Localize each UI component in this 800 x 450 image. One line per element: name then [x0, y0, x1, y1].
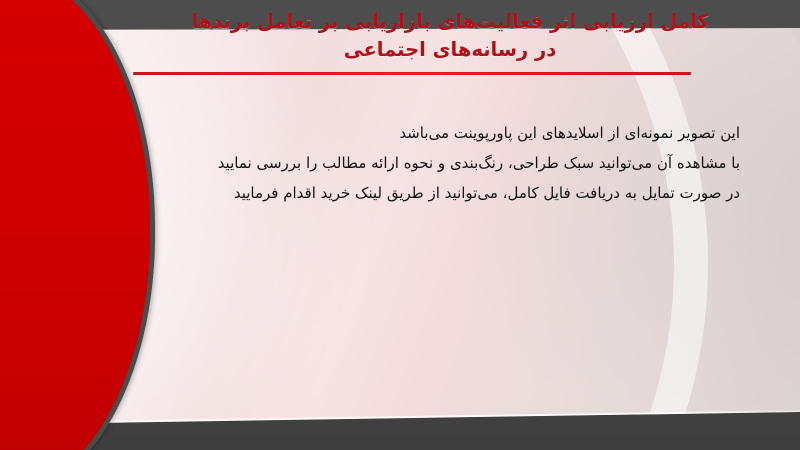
body-text-line-1: این تصویر نمونه‌ای از اسلایدهای این پاور… [130, 118, 740, 148]
slide-title-line-1: کامل ارزیابی اثر فعالیت‌های بازاریابی بر… [130, 8, 770, 36]
slide-title: کامل ارزیابی اثر فعالیت‌های بازاریابی بر… [130, 8, 770, 65]
body-text-line-2: با مشاهده آن می‌توانید سبک طراحی، رنگ‌بن… [130, 148, 740, 178]
slide-body-text: این تصویر نمونه‌ای از اسلایدهای این پاور… [130, 118, 740, 208]
title-divider-rule [133, 72, 691, 75]
presentation-slide: کامل ارزیابی اثر فعالیت‌های بازاریابی بر… [0, 0, 800, 450]
body-text-line-3: در صورت تمایل به دریافت فایل کامل، می‌تو… [130, 178, 740, 208]
slide-title-line-2: در رسانه‌های اجتماعی [130, 36, 770, 64]
